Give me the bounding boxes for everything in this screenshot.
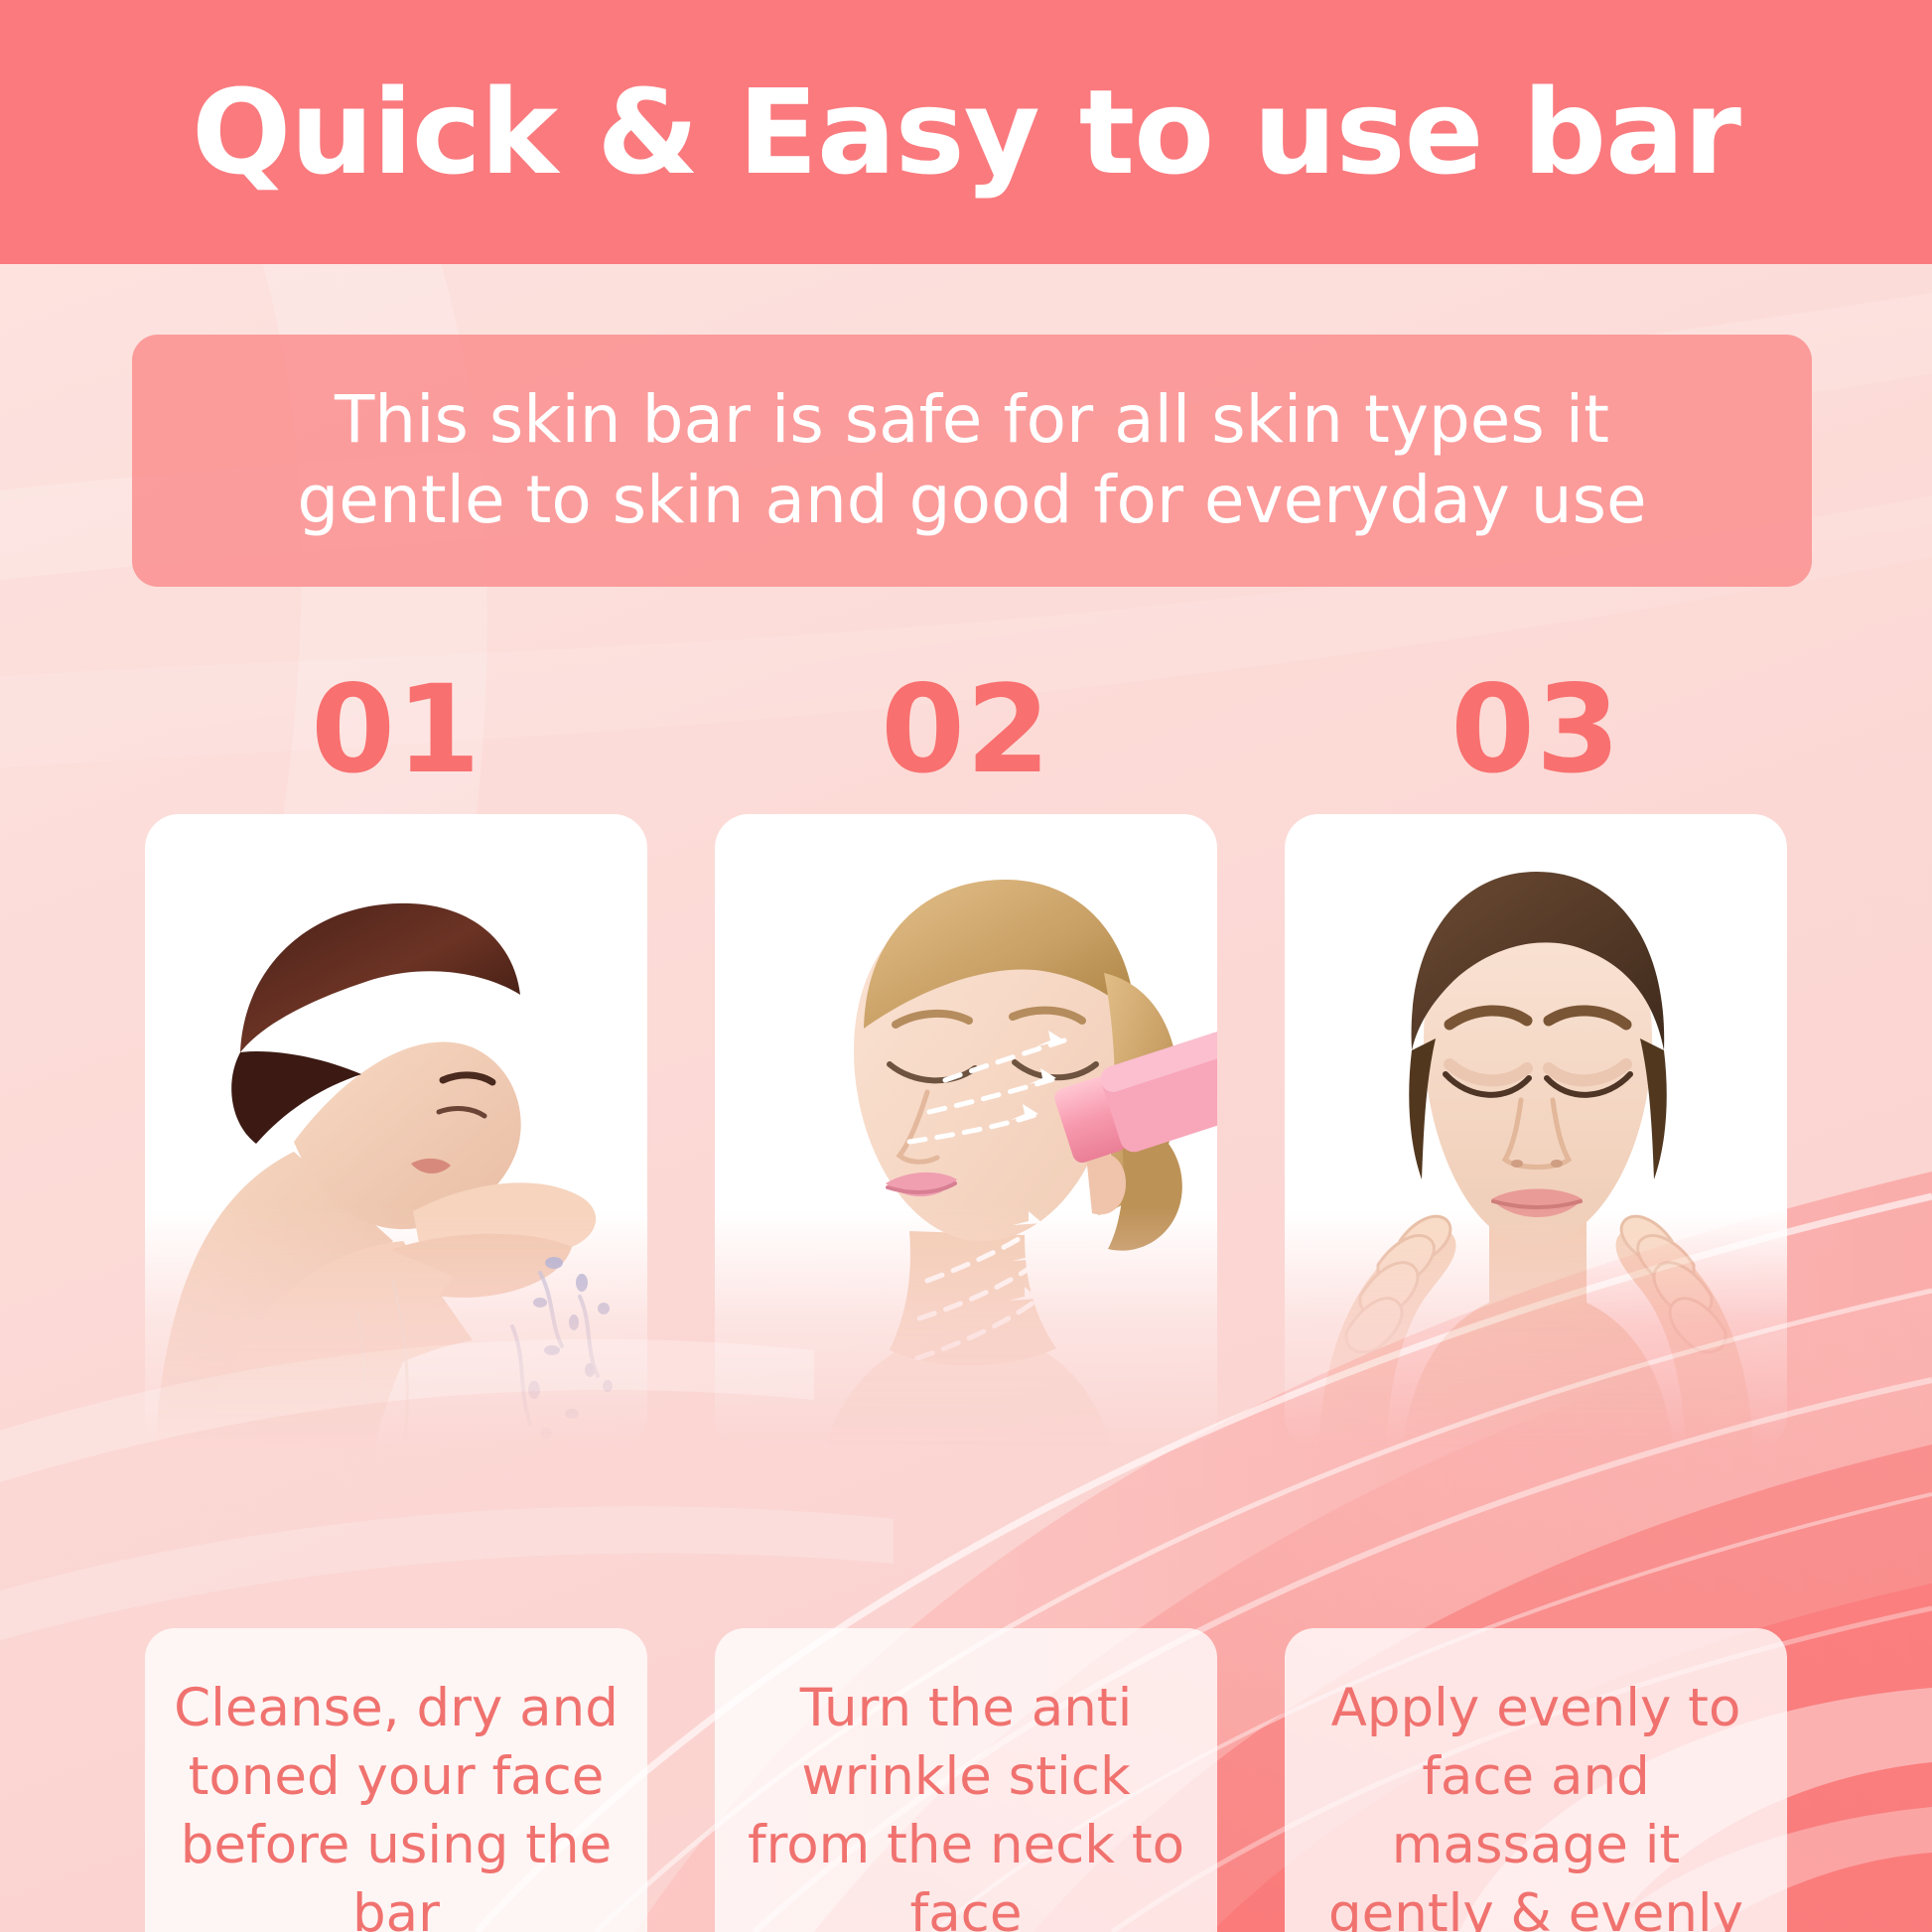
step-photo-card-1 xyxy=(145,814,647,1449)
step-number-02: 02 xyxy=(881,645,1051,814)
step-column-1: 01 xyxy=(145,645,647,1932)
step-caption-card-2: Turn the anti wrinkle stick from the nec… xyxy=(715,1628,1217,1932)
step-number-03: 03 xyxy=(1450,645,1621,814)
subtitle-line-1: This skin bar is safe for all skin types… xyxy=(335,380,1609,461)
page-title: Quick & Easy to use bar xyxy=(192,73,1740,191)
infographic-poster: Quick & Easy to use bar This skin bar is… xyxy=(0,0,1932,1932)
step-column-3: 03 xyxy=(1285,645,1787,1932)
woman-applying-pink-stick-photo xyxy=(715,814,1217,1449)
step-caption-card-3: Apply evenly to face and massage it gent… xyxy=(1285,1628,1787,1932)
step-caption-text-1: Cleanse, dry and toned your face before … xyxy=(171,1675,621,1932)
header-band: Quick & Easy to use bar xyxy=(0,0,1932,264)
subtitle-banner: This skin bar is safe for all skin types… xyxy=(132,335,1812,587)
step-photo-card-2 xyxy=(715,814,1217,1449)
step-number-01: 01 xyxy=(311,645,482,814)
subtitle-line-2: gentle to skin and good for everyday use xyxy=(297,461,1646,541)
step-caption-text-3: Apply evenly to face and massage it gent… xyxy=(1311,1675,1761,1932)
step-photo-card-3 xyxy=(1285,814,1787,1449)
step-caption-card-1: Cleanse, dry and toned your face before … xyxy=(145,1628,647,1932)
step-caption-text-2: Turn the anti wrinkle stick from the nec… xyxy=(741,1675,1191,1932)
woman-massaging-face-photo xyxy=(1285,814,1787,1449)
step-column-2: 02 xyxy=(715,645,1217,1932)
woman-splashing-water-on-face-photo xyxy=(145,814,647,1449)
steps-grid: 01 xyxy=(0,645,1932,1932)
